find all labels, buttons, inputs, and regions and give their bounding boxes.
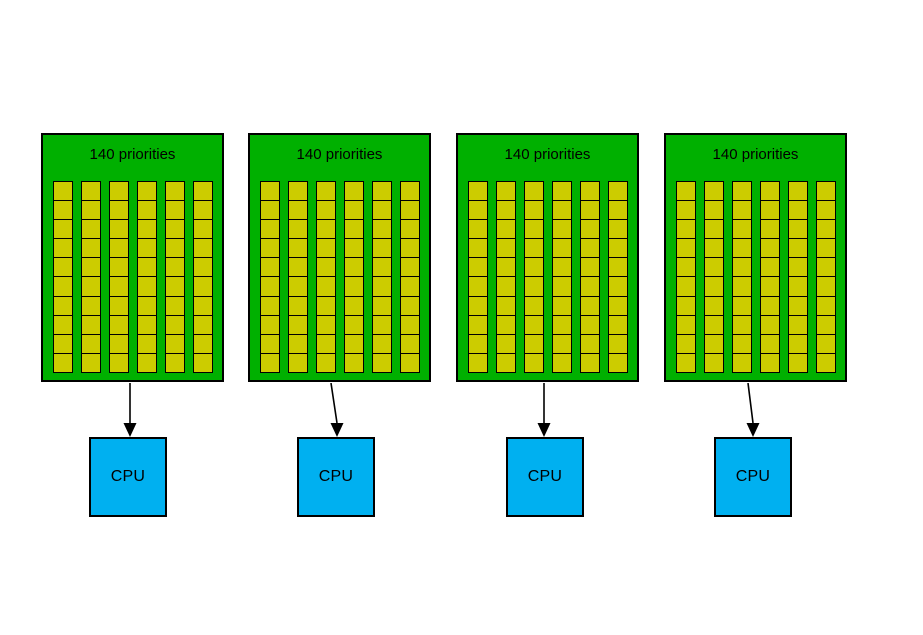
priority-slot: [525, 182, 543, 201]
priority-slot-grid: [676, 181, 836, 373]
priority-slot: [789, 354, 807, 372]
priority-slot: [401, 201, 419, 220]
priority-slot-column: [372, 181, 392, 373]
priority-slot: [289, 354, 307, 372]
priority-slot: [609, 258, 627, 277]
priority-slot: [166, 354, 184, 372]
priority-slot: [82, 182, 100, 201]
priority-slot: [194, 354, 212, 372]
priority-slot: [110, 316, 128, 335]
priority-slot: [469, 297, 487, 316]
priority-slot: [54, 297, 72, 316]
priority-slot: [166, 182, 184, 201]
priority-slot: [373, 182, 391, 201]
priority-slot: [609, 335, 627, 354]
priority-slot: [525, 201, 543, 220]
priority-slot: [138, 220, 156, 239]
runqueue-to-cpu-arrow: [534, 383, 554, 437]
priority-slot: [194, 277, 212, 296]
priority-slot: [469, 335, 487, 354]
priority-slot: [289, 277, 307, 296]
priority-slot: [553, 354, 571, 372]
priority-slot: [581, 220, 599, 239]
priority-slot-column: [788, 181, 808, 373]
priority-slot: [817, 201, 835, 220]
priority-slot: [525, 220, 543, 239]
priority-panel-label: 140 priorities: [666, 146, 845, 164]
priority-slot: [553, 258, 571, 277]
priority-slot: [110, 335, 128, 354]
priority-slot: [469, 354, 487, 372]
priority-slot: [166, 316, 184, 335]
priority-slot: [553, 239, 571, 258]
priority-slot: [705, 335, 723, 354]
arrow-icon: [534, 383, 554, 437]
priority-slot: [761, 297, 779, 316]
priority-slot: [789, 277, 807, 296]
priority-slot: [166, 258, 184, 277]
priority-slot: [166, 220, 184, 239]
priority-slot: [817, 277, 835, 296]
priority-slot: [553, 335, 571, 354]
priority-slot: [609, 182, 627, 201]
priority-slot: [497, 297, 515, 316]
priority-slot-column: [524, 181, 544, 373]
priority-slot: [138, 277, 156, 296]
priority-slot: [317, 297, 335, 316]
priority-slot: [401, 354, 419, 372]
priority-slot: [581, 277, 599, 296]
priority-slot: [609, 354, 627, 372]
priority-slot: [733, 182, 751, 201]
priority-slot: [345, 335, 363, 354]
priority-slot: [609, 220, 627, 239]
priority-slot: [82, 277, 100, 296]
priority-slot-column: [816, 181, 836, 373]
priority-slot: [733, 201, 751, 220]
priority-slot-column: [137, 181, 157, 373]
priority-slot: [609, 201, 627, 220]
priority-slot: [166, 297, 184, 316]
priority-slot: [54, 201, 72, 220]
priority-slot: [166, 201, 184, 220]
priority-slot: [733, 354, 751, 372]
priority-slot: [581, 201, 599, 220]
priority-slot: [289, 182, 307, 201]
priority-slot: [194, 316, 212, 335]
priority-slot: [497, 220, 515, 239]
priority-slot: [82, 220, 100, 239]
priority-slot: [677, 182, 695, 201]
priority-slot: [789, 335, 807, 354]
priority-slot: [469, 239, 487, 258]
priority-slot: [82, 316, 100, 335]
runqueue-to-cpu-arrow: [120, 383, 140, 437]
priority-slot: [705, 258, 723, 277]
priority-slot: [581, 258, 599, 277]
priority-slot: [817, 297, 835, 316]
priority-slot-column: [344, 181, 364, 373]
priority-slot: [401, 220, 419, 239]
priority-slot: [553, 182, 571, 201]
priority-slot: [705, 182, 723, 201]
priority-slot: [733, 239, 751, 258]
priority-slot: [581, 297, 599, 316]
priority-slot: [194, 182, 212, 201]
priority-slot: [469, 182, 487, 201]
priority-slot: [54, 220, 72, 239]
runqueue-to-cpu-arrow: [738, 383, 763, 437]
priority-slot: [609, 239, 627, 258]
priority-slot: [82, 258, 100, 277]
priority-slot-column: [260, 181, 280, 373]
priority-slot: [289, 220, 307, 239]
priority-slot: [469, 277, 487, 296]
priority-slot: [733, 258, 751, 277]
priority-slot: [373, 258, 391, 277]
priority-slot: [497, 354, 515, 372]
arrow-icon: [321, 383, 347, 437]
priority-slot: [733, 220, 751, 239]
priority-slot: [497, 182, 515, 201]
priority-slot: [110, 220, 128, 239]
priority-slot: [373, 239, 391, 258]
priority-slot: [138, 201, 156, 220]
priority-slot-column: [53, 181, 73, 373]
priority-slot: [761, 277, 779, 296]
priority-slot: [373, 201, 391, 220]
priority-slot: [373, 220, 391, 239]
priority-slot: [261, 182, 279, 201]
priority-slot: [677, 354, 695, 372]
priority-slot: [401, 335, 419, 354]
priority-slot: [166, 277, 184, 296]
priority-slot: [138, 239, 156, 258]
priority-slot: [82, 335, 100, 354]
priority-slot-column: [165, 181, 185, 373]
priority-slot: [817, 239, 835, 258]
priority-slot: [817, 258, 835, 277]
priority-slot: [609, 316, 627, 335]
priority-slot: [789, 239, 807, 258]
priority-slot: [110, 297, 128, 316]
priority-slot: [261, 239, 279, 258]
priority-slot: [789, 201, 807, 220]
priority-slot: [138, 354, 156, 372]
priority-slot: [401, 182, 419, 201]
priority-slot: [677, 258, 695, 277]
priority-slot: [677, 239, 695, 258]
priority-slot: [525, 239, 543, 258]
cpu-box-label: CPU: [736, 468, 770, 486]
priority-slot: [317, 182, 335, 201]
priority-slot: [817, 335, 835, 354]
priority-slot: [705, 201, 723, 220]
priority-slot: [110, 201, 128, 220]
priority-slot: [497, 258, 515, 277]
priority-slot: [194, 239, 212, 258]
priority-slot: [54, 277, 72, 296]
priority-slot-column: [193, 181, 213, 373]
cpu-box: CPU: [297, 437, 375, 517]
priority-slot-column: [580, 181, 600, 373]
priority-slot: [553, 220, 571, 239]
priority-slot: [789, 182, 807, 201]
priority-slot: [317, 220, 335, 239]
priority-slot: [497, 201, 515, 220]
priority-slot-column: [732, 181, 752, 373]
priority-slot: [261, 220, 279, 239]
priority-slot: [761, 316, 779, 335]
priority-panel-label: 140 priorities: [458, 146, 637, 164]
priority-slot: [194, 258, 212, 277]
priority-slot: [194, 297, 212, 316]
priority-slot: [525, 297, 543, 316]
priority-slot: [553, 201, 571, 220]
priority-slot-column: [81, 181, 101, 373]
priority-slot: [817, 182, 835, 201]
priority-slot-column: [316, 181, 336, 373]
priority-slot: [373, 335, 391, 354]
priority-slot: [261, 316, 279, 335]
priority-slot: [345, 239, 363, 258]
diagram-canvas: 140 prioritiesCPU140 prioritiesCPU140 pr…: [0, 0, 923, 635]
priority-slot: [138, 258, 156, 277]
priority-slot: [317, 316, 335, 335]
priority-slot: [110, 277, 128, 296]
cpu-box-label: CPU: [528, 468, 562, 486]
priority-panel-label: 140 priorities: [43, 146, 222, 164]
priority-slot: [677, 220, 695, 239]
priority-slot: [677, 335, 695, 354]
priority-slot: [317, 277, 335, 296]
priority-slot-column: [704, 181, 724, 373]
priority-slot: [525, 258, 543, 277]
priority-slot: [761, 220, 779, 239]
priority-slot: [581, 182, 599, 201]
priority-slot: [194, 201, 212, 220]
priority-slot: [82, 201, 100, 220]
arrow-icon: [738, 383, 763, 437]
priority-slot: [345, 316, 363, 335]
priority-slot: [761, 258, 779, 277]
priority-slot: [138, 316, 156, 335]
priority-slot: [110, 239, 128, 258]
priority-slot: [345, 201, 363, 220]
priority-slot-grid: [468, 181, 628, 373]
priority-slot: [789, 220, 807, 239]
priority-slot: [261, 297, 279, 316]
priority-slot: [497, 316, 515, 335]
priority-slot: [497, 277, 515, 296]
priority-slot: [261, 258, 279, 277]
priority-slot: [401, 258, 419, 277]
arrow-icon: [120, 383, 140, 437]
priority-slot: [705, 220, 723, 239]
priority-slot-column: [468, 181, 488, 373]
priority-slot: [289, 258, 307, 277]
priority-slot: [110, 258, 128, 277]
priority-slot: [525, 335, 543, 354]
priority-slot: [677, 297, 695, 316]
priority-slot: [82, 354, 100, 372]
priority-slot: [705, 297, 723, 316]
priority-slot: [261, 335, 279, 354]
priority-slot-column: [608, 181, 628, 373]
priority-slot: [317, 258, 335, 277]
priority-slot: [373, 316, 391, 335]
priority-slot: [401, 277, 419, 296]
priority-panel-label: 140 priorities: [250, 146, 429, 164]
priority-slot: [345, 182, 363, 201]
priority-slot: [345, 297, 363, 316]
priority-slot: [289, 335, 307, 354]
priority-slot: [733, 277, 751, 296]
priority-slot: [733, 316, 751, 335]
priority-slot: [345, 354, 363, 372]
priority-slot: [609, 277, 627, 296]
priority-slot: [110, 354, 128, 372]
priority-slot: [345, 258, 363, 277]
priority-slot: [401, 316, 419, 335]
priority-slot: [317, 354, 335, 372]
priority-slot: [54, 335, 72, 354]
priority-slot: [289, 239, 307, 258]
priority-slot: [261, 277, 279, 296]
priority-slot: [581, 316, 599, 335]
priority-slot: [497, 335, 515, 354]
priority-slot: [261, 354, 279, 372]
priority-slot: [817, 220, 835, 239]
priority-slot: [138, 335, 156, 354]
priority-slot: [525, 277, 543, 296]
priority-slot: [54, 258, 72, 277]
priority-slot: [261, 201, 279, 220]
priority-slot: [553, 277, 571, 296]
priority-slot: [553, 297, 571, 316]
priority-slot: [677, 201, 695, 220]
priority-slot-grid: [53, 181, 213, 373]
priority-slot: [469, 220, 487, 239]
priority-slot: [110, 182, 128, 201]
priority-slot: [705, 277, 723, 296]
priority-slot: [497, 239, 515, 258]
priority-slot: [733, 297, 751, 316]
cpu-box-label: CPU: [319, 468, 353, 486]
priority-slot: [469, 201, 487, 220]
priority-slot: [166, 335, 184, 354]
priority-slot: [817, 354, 835, 372]
priority-slot: [194, 335, 212, 354]
cpu-box: CPU: [714, 437, 792, 517]
priority-slot-column: [552, 181, 572, 373]
priority-slot: [373, 354, 391, 372]
priority-slot: [166, 239, 184, 258]
priority-slot: [289, 316, 307, 335]
priority-slot: [469, 316, 487, 335]
priority-slot: [705, 239, 723, 258]
priority-slot: [289, 297, 307, 316]
priority-slot: [761, 354, 779, 372]
priority-slot: [82, 239, 100, 258]
priority-slot: [581, 354, 599, 372]
priority-slot: [581, 335, 599, 354]
priority-slot: [194, 220, 212, 239]
priority-slot: [138, 182, 156, 201]
priority-slot: [401, 239, 419, 258]
priority-slot: [525, 354, 543, 372]
priority-slot: [54, 354, 72, 372]
priority-slot: [317, 239, 335, 258]
priority-slot: [581, 239, 599, 258]
priority-slot: [373, 277, 391, 296]
priority-slot-column: [400, 181, 420, 373]
priority-slot: [789, 297, 807, 316]
priority-slot: [553, 316, 571, 335]
priority-slot: [469, 258, 487, 277]
priority-slot: [54, 182, 72, 201]
priority-slot: [289, 201, 307, 220]
priority-slot-grid: [260, 181, 420, 373]
priority-slot: [761, 182, 779, 201]
priority-slot: [789, 258, 807, 277]
cpu-box: CPU: [89, 437, 167, 517]
priority-slot: [525, 316, 543, 335]
priority-slot: [317, 201, 335, 220]
cpu-box-label: CPU: [111, 468, 145, 486]
priority-slot: [401, 297, 419, 316]
priority-slot-column: [288, 181, 308, 373]
runqueue-to-cpu-arrow: [321, 383, 347, 437]
priority-slot: [705, 354, 723, 372]
priority-slot-column: [676, 181, 696, 373]
priority-slot: [761, 335, 779, 354]
priority-slot-column: [760, 181, 780, 373]
priority-slot-column: [496, 181, 516, 373]
priority-slot: [609, 297, 627, 316]
priority-slot: [82, 297, 100, 316]
priority-slot: [677, 316, 695, 335]
priority-slot: [761, 239, 779, 258]
priority-slot: [733, 335, 751, 354]
priority-slot: [54, 239, 72, 258]
priority-slot: [677, 277, 695, 296]
priority-slot: [789, 316, 807, 335]
priority-slot-column: [109, 181, 129, 373]
priority-slot: [54, 316, 72, 335]
priority-slot: [817, 316, 835, 335]
priority-slot: [317, 335, 335, 354]
priority-slot: [373, 297, 391, 316]
cpu-box: CPU: [506, 437, 584, 517]
priority-slot: [345, 220, 363, 239]
priority-slot: [705, 316, 723, 335]
priority-slot: [138, 297, 156, 316]
priority-slot: [345, 277, 363, 296]
priority-slot: [761, 201, 779, 220]
